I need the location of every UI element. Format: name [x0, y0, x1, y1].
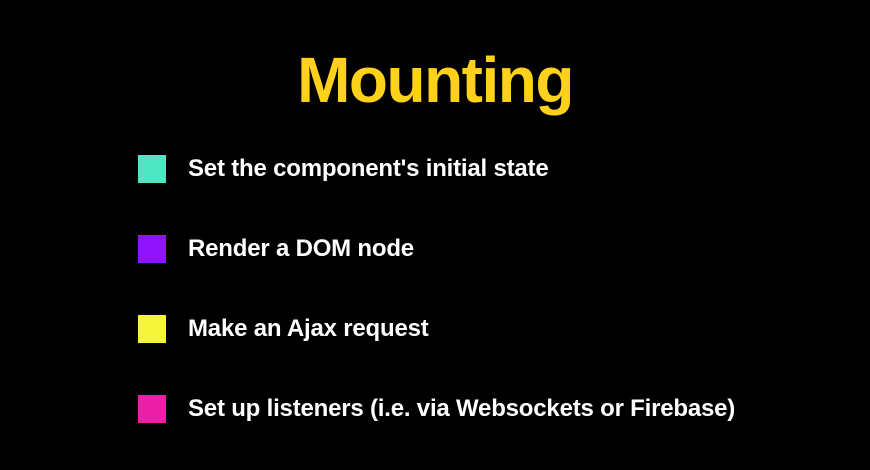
bullet-list: Set the component's initial state Render… — [138, 155, 858, 423]
swatch-yellow — [138, 315, 166, 343]
list-item-label: Make an Ajax request — [188, 315, 429, 343]
list-item-label: Set up listeners (i.e. via Websockets or… — [188, 395, 735, 423]
swatch-teal — [138, 155, 166, 183]
list-item: Set the component's initial state — [138, 155, 858, 183]
page-title: Mounting — [0, 44, 870, 116]
list-item: Make an Ajax request — [138, 315, 858, 343]
list-item: Render a DOM node — [138, 235, 858, 263]
swatch-magenta — [138, 395, 166, 423]
swatch-purple — [138, 235, 166, 263]
list-item-label: Render a DOM node — [188, 235, 414, 263]
presentation-slide: Mounting Set the component's initial sta… — [0, 0, 870, 470]
list-item-label: Set the component's initial state — [188, 155, 549, 183]
list-item: Set up listeners (i.e. via Websockets or… — [138, 395, 858, 423]
